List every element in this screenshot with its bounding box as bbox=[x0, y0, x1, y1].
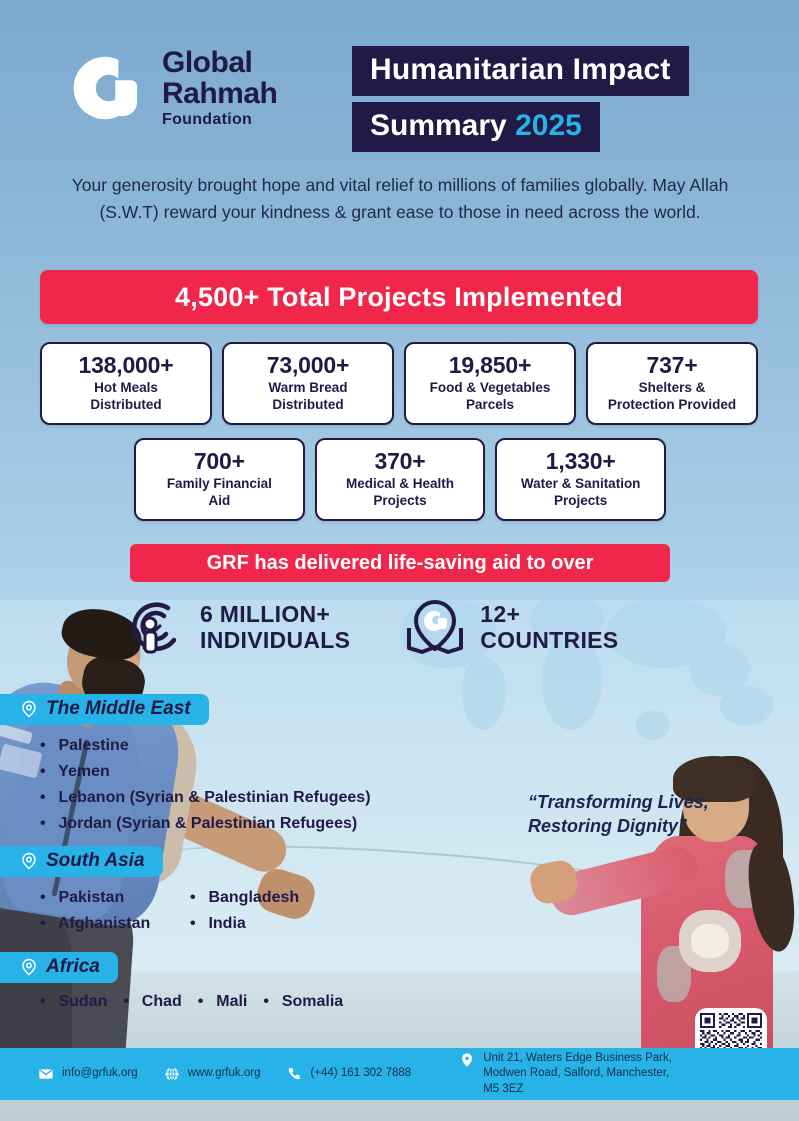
brand-name-line2: Rahmah bbox=[162, 79, 277, 110]
poster-canvas: Global Rahmah Foundation Humanitarian Im… bbox=[0, 0, 799, 1121]
footer-email[interactable]: info@grfuk.org bbox=[38, 1066, 138, 1082]
reach-banner: GRF has delivered life-saving aid to ove… bbox=[130, 544, 670, 582]
footer-email-text[interactable]: info@grfuk.org bbox=[62, 1066, 138, 1082]
stat-label-line1: Family Financial bbox=[167, 476, 272, 491]
stat-label-line1: Medical & Health bbox=[346, 476, 454, 491]
stat-label: Warm Bread Distributed bbox=[230, 380, 386, 414]
country-name: Bangladesh bbox=[208, 889, 299, 906]
footer-address-line1: Unit 21, Waters Edge Business Park, bbox=[483, 1051, 672, 1067]
location-pin-icon bbox=[20, 958, 38, 976]
list-item: • Bangladesh bbox=[190, 885, 299, 911]
title-year: 2025 bbox=[515, 109, 582, 142]
globe-icon bbox=[164, 1066, 180, 1082]
stat-card: 370+ Medical & Health Projects bbox=[315, 438, 486, 521]
title-line-1: Humanitarian Impact bbox=[352, 46, 689, 96]
list-item: • Lebanon (Syrian & Palestinian Refugees… bbox=[40, 785, 371, 811]
stat-number: 700+ bbox=[142, 448, 297, 474]
list-item: • Yemen bbox=[40, 759, 371, 785]
stat-card: 138,000+ Hot Meals Distributed bbox=[40, 342, 212, 425]
reach-countries-text: 12+ COUNTRIES bbox=[480, 601, 618, 654]
region-name: Africa bbox=[46, 956, 100, 978]
quote-line1: “Transforming Lives, bbox=[528, 790, 778, 814]
region-pill: South Asia bbox=[0, 846, 163, 877]
reach-individuals-line2: INDIVIDUALS bbox=[200, 627, 350, 653]
reach-countries: 12+ COUNTRIES bbox=[404, 596, 618, 658]
location-pin-icon bbox=[20, 700, 38, 718]
list-item: • India bbox=[190, 911, 299, 937]
stat-label-line1: Shelters & bbox=[639, 380, 706, 395]
map-pin-book-icon bbox=[404, 596, 466, 658]
footer-website-text[interactable]: www.grfuk.org bbox=[188, 1066, 261, 1082]
country-name: Mali bbox=[216, 993, 247, 1010]
reach-individuals: 6 MILLION+ INDIVIDUALS bbox=[124, 596, 350, 658]
stat-label-line2: Projects bbox=[554, 493, 607, 508]
list-item: • Chad bbox=[123, 993, 181, 1011]
brand-name-line3: Foundation bbox=[162, 112, 277, 128]
region-middle-east: The Middle East • Palestine • Yemen • Le… bbox=[0, 694, 371, 837]
stat-label-line1: Water & Sanitation bbox=[521, 476, 641, 491]
stat-label: Water & Sanitation Projects bbox=[503, 476, 658, 510]
country-name: Somalia bbox=[282, 993, 343, 1010]
region-africa: Africa • Sudan • Chad • Mali • Somalia bbox=[0, 952, 343, 1011]
footer-address-line2: Modwen Road, Salford, Manchester, bbox=[483, 1066, 672, 1082]
quote-line2: Restoring Dignity” bbox=[528, 814, 778, 838]
stat-card: 700+ Family Financial Aid bbox=[134, 438, 305, 521]
stat-number: 19,850+ bbox=[412, 352, 568, 378]
brand-name-line1: Global bbox=[162, 48, 277, 79]
stat-label-line1: Warm Bread bbox=[268, 380, 347, 395]
person-reach-icon bbox=[124, 596, 186, 658]
country-name: Chad bbox=[142, 993, 182, 1010]
list-item: • Pakistan bbox=[40, 885, 190, 911]
country-name: Palestine bbox=[58, 737, 128, 754]
country-name: India bbox=[208, 915, 245, 932]
reach-row: 6 MILLION+ INDIVIDUALS 12+ COUNTRIES bbox=[124, 596, 618, 658]
stat-label-line2: Projects bbox=[373, 493, 426, 508]
reach-countries-line1: 12+ bbox=[480, 601, 618, 627]
reach-countries-line2: COUNTRIES bbox=[480, 627, 618, 653]
country-name: Afghanistan bbox=[58, 915, 150, 932]
stat-number: 1,330+ bbox=[503, 448, 658, 474]
region-country-list: • Palestine • Yemen • Lebanon (Syrian & … bbox=[0, 733, 371, 837]
region-country-list: • Pakistan • Bangladesh • Afghanistan • … bbox=[0, 885, 299, 937]
list-item: • Afghanistan bbox=[40, 911, 190, 937]
region-name: The Middle East bbox=[46, 698, 191, 720]
stat-label: Food & Vegetables Parcels bbox=[412, 380, 568, 414]
country-name: Pakistan bbox=[58, 889, 124, 906]
stat-card: 73,000+ Warm Bread Distributed bbox=[222, 342, 394, 425]
grf-g-mark-icon bbox=[70, 49, 148, 127]
list-item: • Sudan bbox=[40, 993, 107, 1011]
stat-label: Family Financial Aid bbox=[142, 476, 297, 510]
brand-logo: Global Rahmah Foundation bbox=[70, 48, 277, 129]
region-country-list: • Sudan • Chad • Mali • Somalia bbox=[0, 993, 343, 1011]
footer-address: Unit 21, Waters Edge Business Park, Modw… bbox=[459, 1051, 672, 1098]
country-name: Sudan bbox=[58, 993, 107, 1010]
page-title: Humanitarian Impact Summary 2025 bbox=[352, 46, 799, 152]
stat-cards-row-1: 138,000+ Hot Meals Distributed 73,000+ W… bbox=[40, 342, 758, 425]
stat-label-line2: Distributed bbox=[90, 397, 161, 412]
stat-label-line1: Hot Meals bbox=[94, 380, 158, 395]
footer-phone-text[interactable]: (+44) 161 302 7888 bbox=[310, 1066, 411, 1082]
intro-paragraph: Your generosity brought hope and vital r… bbox=[70, 172, 730, 226]
stat-number: 138,000+ bbox=[48, 352, 204, 378]
tagline-quote: “Transforming Lives, Restoring Dignity” bbox=[528, 790, 778, 839]
stat-label: Medical & Health Projects bbox=[323, 476, 478, 510]
country-name: Jordan (Syrian & Palestinian Refugees) bbox=[58, 815, 357, 832]
list-item: • Somalia bbox=[263, 993, 343, 1011]
region-name: South Asia bbox=[46, 850, 145, 872]
reach-individuals-text: 6 MILLION+ INDIVIDUALS bbox=[200, 601, 350, 654]
country-name: Lebanon (Syrian & Palestinian Refugees) bbox=[58, 789, 370, 806]
envelope-icon bbox=[38, 1066, 54, 1082]
region-south-asia: South Asia • Pakistan • Bangladesh • Afg… bbox=[0, 846, 299, 937]
stat-label: Hot Meals Distributed bbox=[48, 380, 204, 414]
stat-label-line2: Parcels bbox=[466, 397, 514, 412]
location-pin-icon bbox=[459, 1052, 475, 1068]
stat-label-line1: Food & Vegetables bbox=[430, 380, 551, 395]
region-pill: Africa bbox=[0, 952, 118, 983]
stat-label-line2: Aid bbox=[208, 493, 230, 508]
list-item: • Mali bbox=[198, 993, 248, 1011]
total-projects-banner: 4,500+ Total Projects Implemented bbox=[40, 270, 758, 324]
footer-website[interactable]: www.grfuk.org bbox=[164, 1066, 261, 1082]
stat-number: 73,000+ bbox=[230, 352, 386, 378]
stat-label-line2: Protection Provided bbox=[608, 397, 736, 412]
stat-number: 737+ bbox=[594, 352, 750, 378]
location-pin-icon bbox=[20, 852, 38, 870]
reach-individuals-line1: 6 MILLION+ bbox=[200, 601, 350, 627]
contact-footer: info@grfuk.org www.grfuk.org (+44) 161 3… bbox=[0, 1048, 799, 1100]
country-name: Yemen bbox=[58, 763, 110, 780]
title-summary-word: Summary bbox=[370, 109, 507, 142]
stat-card: 737+ Shelters & Protection Provided bbox=[586, 342, 758, 425]
list-item: • Palestine bbox=[40, 733, 371, 759]
footer-phone[interactable]: (+44) 161 302 7888 bbox=[286, 1066, 411, 1082]
stat-card: 1,330+ Water & Sanitation Projects bbox=[495, 438, 666, 521]
title-line-2: Summary 2025 bbox=[352, 102, 600, 152]
footer-address-line3: M5 3EZ bbox=[483, 1082, 672, 1098]
stat-cards-row-2: 700+ Family Financial Aid 370+ Medical &… bbox=[134, 438, 666, 521]
list-item: • Jordan (Syrian & Palestinian Refugees) bbox=[40, 811, 371, 837]
phone-icon bbox=[286, 1066, 302, 1082]
region-pill: The Middle East bbox=[0, 694, 209, 725]
stat-card: 19,850+ Food & Vegetables Parcels bbox=[404, 342, 576, 425]
stat-label: Shelters & Protection Provided bbox=[594, 380, 750, 414]
stat-label-line2: Distributed bbox=[272, 397, 343, 412]
stat-number: 370+ bbox=[323, 448, 478, 474]
